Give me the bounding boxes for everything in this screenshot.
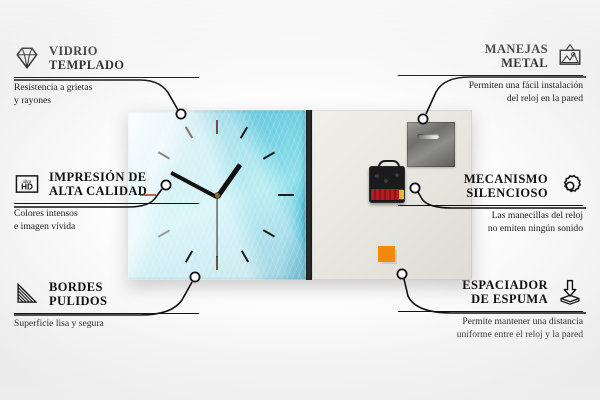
- clock-tick: [216, 120, 218, 134]
- movement-loop: [378, 160, 400, 171]
- feature-rule: [14, 203, 199, 205]
- feature-desc-line1: Resistencia a grietas: [14, 82, 199, 95]
- feature-mecanismo-silencioso[interactable]: MECANISMO SILENCIOSO Las manecillas del …: [398, 172, 583, 235]
- feature-vidrio-templado[interactable]: VIDRIO TEMPLADO Resistencia a grietas y …: [14, 44, 199, 107]
- feature-desc-line2: y rayones: [14, 95, 199, 108]
- clock-tick: [216, 256, 218, 270]
- clock-tick: [240, 126, 248, 138]
- feature-title-line2: SILENCIOSO: [464, 186, 548, 200]
- arrow-down-stack-icon: [557, 279, 583, 305]
- feature-espaciador-espuma[interactable]: ESPACIADOR DE ESPUMA Permite mantener un…: [398, 278, 583, 341]
- diamond-icon: [14, 45, 40, 71]
- feature-rule: [14, 77, 199, 79]
- gear-icon: [557, 173, 583, 199]
- clock-tick: [278, 194, 294, 196]
- feature-desc-line2: no emiten ningún sonido: [398, 223, 583, 236]
- feature-desc-line1: Colores intensos: [14, 208, 199, 221]
- feature-desc-line1: Superficie lisa y segura: [14, 318, 199, 331]
- feature-title-line1: IMPRESIÓN DE: [49, 170, 147, 184]
- feature-rule: [398, 311, 583, 313]
- feature-title-line2: METAL: [485, 56, 548, 70]
- feature-bordes-pulidos[interactable]: BORDES PULIDOS Superficie lisa y segura: [14, 280, 199, 331]
- feature-rule: [398, 205, 583, 207]
- feature-title-line2: TEMPLADO: [49, 58, 124, 72]
- feature-title-line2: ALTA CALIDAD: [49, 184, 147, 198]
- feature-title-line1: BORDES: [49, 280, 107, 294]
- feature-rule: [398, 75, 583, 77]
- svg-text:HD: HD: [21, 183, 33, 192]
- clock-tick: [263, 152, 275, 160]
- feature-desc-line1: Permiten una fácil instalación: [398, 80, 583, 93]
- feature-impresion-alta-calidad[interactable]: ultra HD IMPRESIÓN DE ALTA CALIDAD Color…: [14, 170, 199, 233]
- feature-manejas-metal[interactable]: MANEJAS METAL Permiten una fácil instala…: [398, 42, 583, 105]
- beveled-edge-icon: [14, 281, 40, 307]
- product-infographic: VIDRIO TEMPLADO Resistencia a grietas y …: [0, 0, 600, 400]
- clock-tick: [263, 230, 275, 238]
- feature-title-line1: MANEJAS: [485, 42, 548, 56]
- feature-rule: [14, 313, 199, 315]
- feature-title-line1: ESPACIADOR: [462, 278, 548, 292]
- hanging-frame-icon: [557, 43, 583, 69]
- feature-desc-line1: Las manecillas del reloj: [398, 210, 583, 223]
- clock-tick: [185, 250, 193, 262]
- movement-detail: [373, 172, 401, 188]
- clock-center-pivot: [215, 193, 220, 198]
- feature-title-line2: PULIDOS: [49, 294, 107, 308]
- feature-title-line2: DE ESPUMA: [462, 292, 548, 306]
- metal-hanger: [407, 122, 455, 167]
- feature-desc-line2: uniforme entre el reloj y la pared: [398, 329, 583, 342]
- clock-second-hand: [216, 196, 217, 258]
- feature-title-line1: VIDRIO: [49, 44, 124, 58]
- ultra-hd-icon: ultra HD: [14, 171, 40, 197]
- feature-desc-line1: Permite mantener una distancia: [398, 316, 583, 329]
- feature-title-line1: MECANISMO: [464, 172, 548, 186]
- foam-spacer: [378, 246, 395, 262]
- hanger-slot: [417, 134, 439, 139]
- clock-hour-hand: [215, 163, 242, 198]
- feature-desc-line2: del reloj en la pared: [398, 93, 583, 106]
- clock-tick: [241, 250, 249, 262]
- clock-tick: [185, 126, 193, 138]
- clock-tick: [158, 152, 170, 160]
- feature-desc-line2: e imagen vívida: [14, 221, 199, 234]
